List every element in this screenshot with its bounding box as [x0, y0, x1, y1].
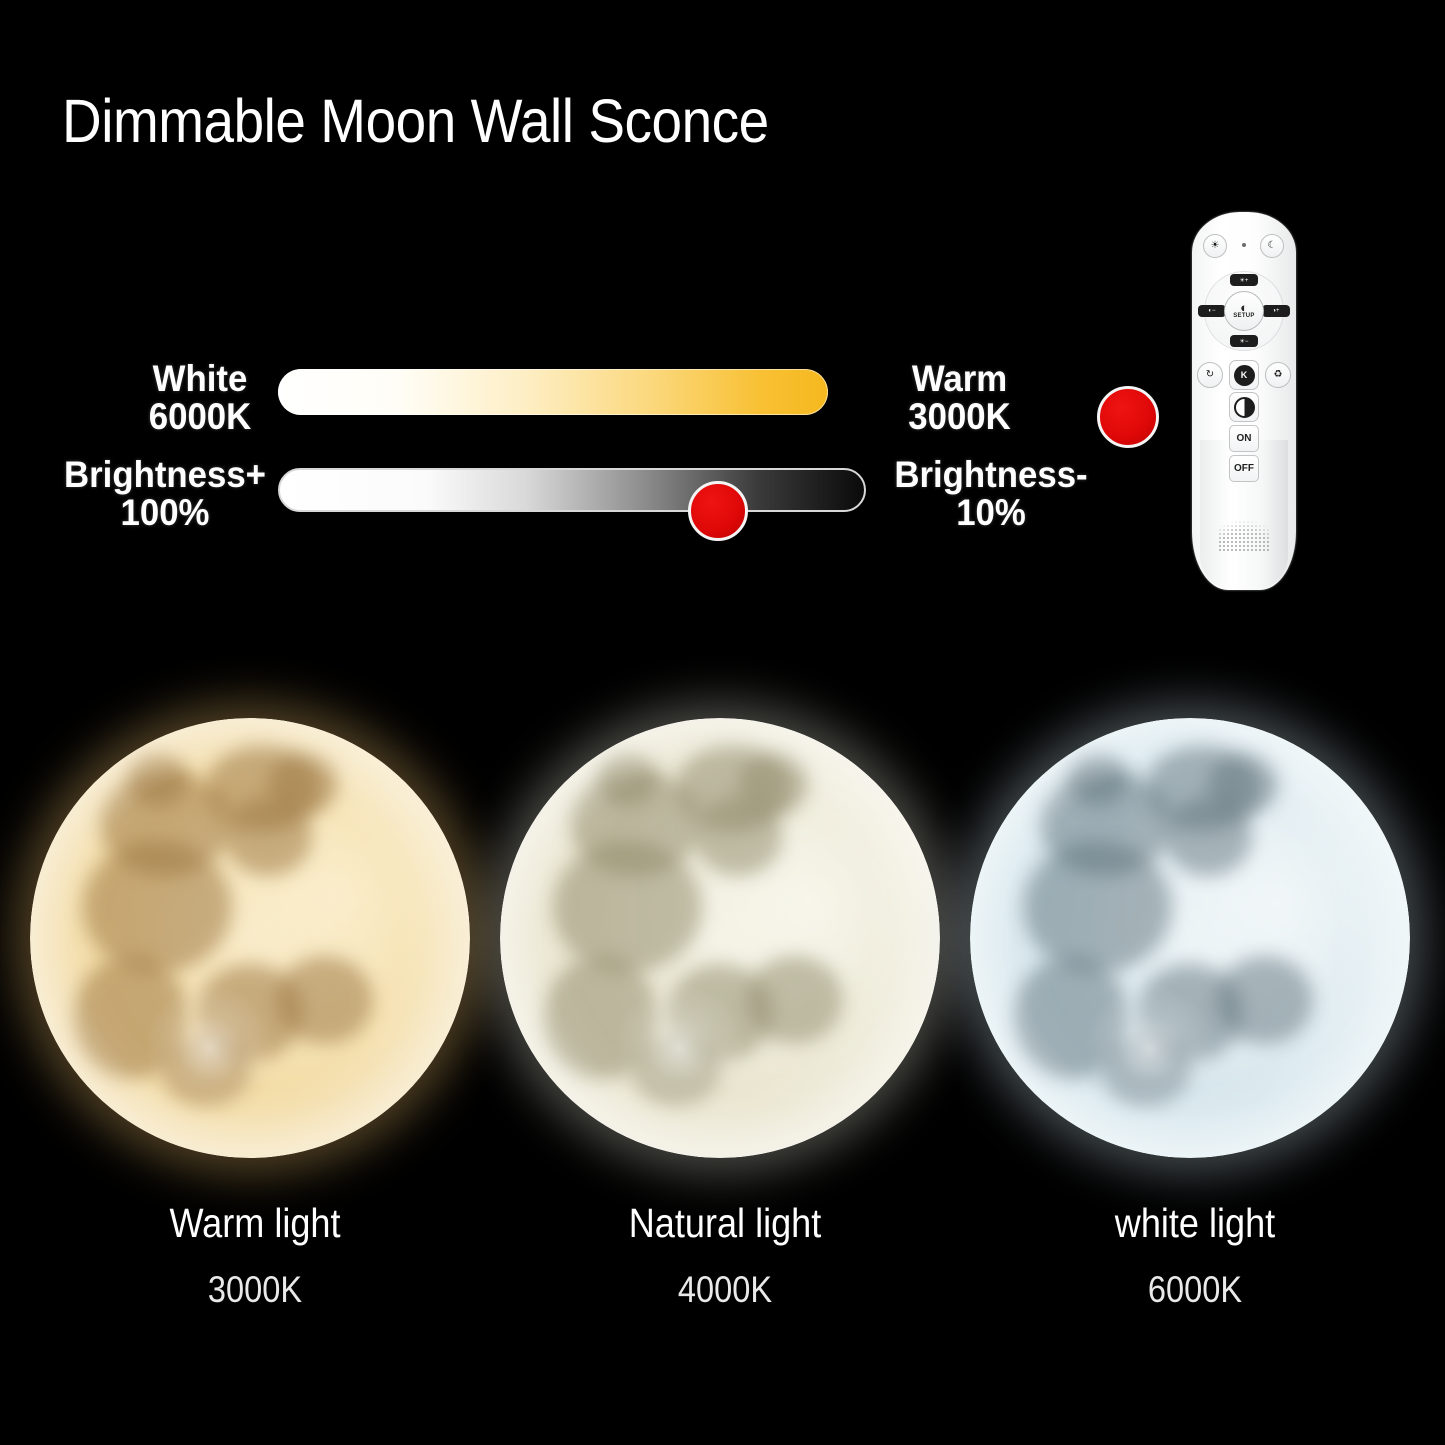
moon-limb-glow	[500, 718, 940, 1158]
moon-star-icon[interactable]: ☾	[1260, 234, 1284, 258]
grille-dots	[1218, 512, 1270, 552]
bulb-icon[interactable]: ☀	[1203, 234, 1227, 258]
loop-glyph: ↻	[1206, 370, 1214, 380]
moon-image-warm	[30, 718, 470, 1158]
power-on-button[interactable]: ON	[1229, 425, 1259, 452]
recycle-icon[interactable]: ♻	[1265, 362, 1291, 388]
color-temp-left-label: White 6000K	[125, 360, 275, 435]
caption-name: Natural light	[523, 1200, 928, 1247]
kelvin-button[interactable]: K	[1229, 360, 1259, 390]
setup-button[interactable]: ◐ SETUP	[1224, 291, 1264, 331]
moon-image-natural	[500, 718, 940, 1158]
moon-image-white	[970, 718, 1410, 1158]
caption-kelvin: 3000K	[53, 1269, 458, 1311]
brightness-down-icon[interactable]: ☀−	[1230, 335, 1258, 347]
brightness-right-label-line2: 10%	[874, 494, 1109, 532]
moon-limb-glow	[30, 718, 470, 1158]
caption-name: Warm light	[53, 1200, 458, 1247]
caption-natural-light: Natural light 4000K	[495, 1200, 955, 1311]
caption-name: white light	[993, 1200, 1398, 1247]
moon-white-light	[965, 700, 1425, 1160]
color-temp-right-label: Warm 3000K	[877, 360, 1042, 435]
dimmer-button[interactable]	[1229, 392, 1259, 422]
color-temperature-slider-track[interactable]	[278, 369, 828, 415]
moon-glyph: ☾	[1268, 241, 1277, 251]
color-temp-right-label-line2: 3000K	[877, 398, 1042, 436]
color-temp-right-label-line1: Warm	[877, 360, 1042, 398]
recycle-glyph: ♻	[1274, 370, 1283, 380]
color-temperature-slider-row: White 6000K Warm 3000K	[0, 342, 1130, 442]
bulb-glyph: ☀	[1211, 241, 1220, 251]
color-temp-warm-icon[interactable]: ◑+	[1262, 305, 1290, 317]
setup-label: SETUP	[1233, 313, 1255, 319]
caption-warm-light: Warm light 3000K	[25, 1200, 485, 1311]
moon-natural-light	[495, 700, 955, 1160]
remote-control: ☀ ☾ ☀+ ◐− ◑+ ☀− ↻ ♻ K ON OFF	[1192, 212, 1296, 590]
loop-icon[interactable]: ↻	[1197, 362, 1223, 388]
power-off-button[interactable]: OFF	[1229, 455, 1259, 482]
color-temp-cool-icon[interactable]: ◐−	[1198, 305, 1226, 317]
brightness-left-label-line1: Brightness+	[48, 456, 283, 494]
page-title: Dimmable Moon Wall Sconce	[62, 86, 769, 156]
caption-kelvin: 6000K	[993, 1269, 1398, 1311]
wifi-icon: ◐	[1240, 303, 1248, 313]
brightness-right-label: Brightness- 10%	[874, 456, 1109, 531]
brightness-right-label-line1: Brightness-	[874, 456, 1109, 494]
kelvin-icon: K	[1234, 365, 1255, 386]
brightness-slider-knob[interactable]	[688, 481, 748, 541]
brightness-up-icon[interactable]: ☀+	[1230, 274, 1258, 286]
caption-white-light: white light 6000K	[965, 1200, 1425, 1311]
brightness-slider-row: Brightness+ 100% Brightness- 10%	[0, 448, 1130, 548]
brightness-left-label-line2: 100%	[48, 494, 283, 532]
brightness-left-label: Brightness+ 100%	[48, 456, 283, 531]
caption-kelvin: 4000K	[523, 1269, 928, 1311]
color-temperature-slider-knob[interactable]	[1097, 386, 1159, 448]
moon-warm-light	[25, 700, 485, 1160]
moon-limb-glow	[970, 718, 1410, 1158]
control-sliders: White 6000K Warm 3000K Brightness+ 100% …	[0, 330, 1130, 570]
moon-gallery	[0, 700, 1445, 1170]
color-temp-left-label-line2: 6000K	[125, 398, 275, 436]
contrast-icon	[1234, 397, 1255, 418]
brightness-slider-track[interactable]	[278, 468, 866, 512]
color-temp-left-label-line1: White	[125, 360, 275, 398]
indicator-dot	[1242, 243, 1246, 247]
